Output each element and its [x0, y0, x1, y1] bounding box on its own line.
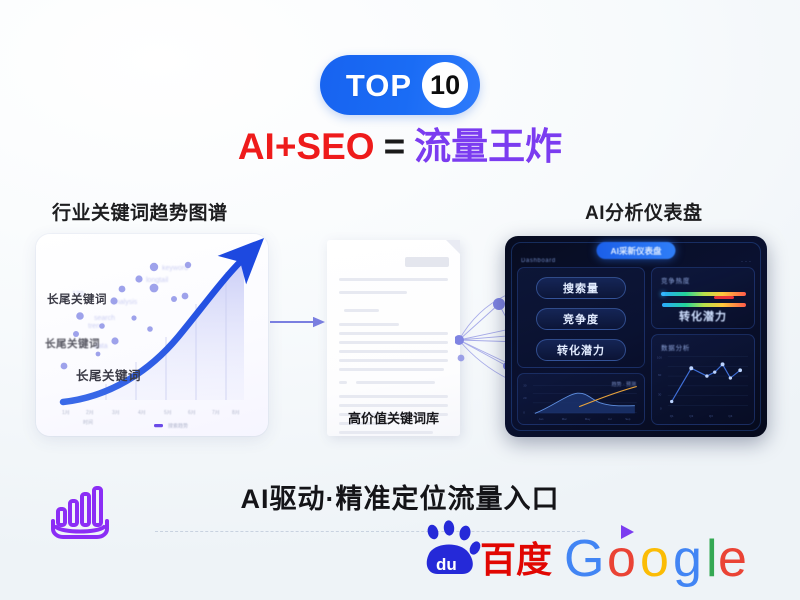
svg-text:4月: 4月 [138, 410, 146, 416]
svg-text:2月: 2月 [86, 410, 94, 416]
ai-dashboard: AI采新仪表盘 Dashboard ··· 搜索量 竞争度 转化潜力 趋势 · … [505, 236, 767, 437]
svg-text:7月: 7月 [212, 410, 220, 416]
dashboard-menu-icon[interactable]: ··· [741, 259, 753, 265]
metrics-panel: 搜索量 竞争度 转化潜力 [517, 267, 645, 368]
svg-text:G: G [564, 530, 604, 588]
svg-text:3月: 3月 [112, 410, 120, 416]
top-badge-container: TOP 10 [0, 55, 800, 115]
top-badge: TOP 10 [320, 55, 480, 115]
svg-text:30: 30 [523, 384, 527, 388]
badge-number: 10 [422, 62, 468, 108]
svg-text:6月: 6月 [188, 410, 196, 416]
svg-text:keyword: keyword [162, 265, 188, 272]
area-chart-panel: 趋势 · 预测 30200 JanMar MayJulSep [517, 373, 645, 425]
svg-text:Q2: Q2 [689, 414, 693, 418]
svg-text:Jan: Jan [539, 417, 544, 421]
svg-text:Sep: Sep [625, 417, 631, 421]
svg-text:时间: 时间 [83, 419, 93, 426]
footer-tagline: AI驱动·精准定位流量入口 [0, 477, 800, 516]
gauge-overlay-label: 转化潜力 [652, 308, 754, 324]
svg-text:100: 100 [657, 355, 662, 359]
svg-text:30: 30 [658, 393, 662, 397]
keyword-label-3: 长尾关键词 [76, 365, 141, 384]
page-title: AI+SEO=流量王炸 [0, 127, 800, 168]
svg-text:Jul: Jul [608, 417, 612, 421]
svg-text:8月: 8月 [232, 410, 240, 416]
left-section-caption: 行业关键词趋势图谱 [52, 198, 228, 225]
gauge-panel: 竞争热度 转化潜力 [651, 267, 755, 329]
google-wordmark: G o o g l e [564, 530, 747, 588]
headline-equals: = [384, 126, 406, 167]
svg-text:analysis: analysis [112, 299, 138, 306]
svg-text:Q1: Q1 [670, 414, 674, 418]
svg-text:search: search [94, 315, 115, 322]
gauge-bar-2 [662, 303, 746, 307]
keyword-document: 高价值关键词库 [327, 240, 460, 436]
metric-pill-conversion-potential[interactable]: 转化潜力 [536, 339, 626, 361]
svg-text:Mar: Mar [562, 417, 567, 421]
svg-text:May: May [585, 417, 591, 421]
right-section-caption: AI分析仪表盘 [585, 198, 703, 225]
keyword-trend-card: keyword longtail analysis search trend d… [36, 234, 268, 436]
baidu-wordmark: 百度 [480, 539, 552, 580]
svg-text:0: 0 [523, 410, 525, 414]
gauge-marker-icon [661, 292, 665, 296]
svg-text:0: 0 [660, 406, 662, 410]
svg-text:1月: 1月 [62, 410, 70, 416]
svg-text:60: 60 [658, 373, 662, 377]
gauge-highlight-segment [714, 296, 734, 299]
badge-label: TOP [346, 70, 412, 101]
svg-text:trend: trend [88, 323, 104, 330]
document-caption: 高价值关键词库 [327, 408, 460, 427]
line-chart-panel: 数据分析 10060 300 Q1Q2 Q3Q4 [651, 334, 755, 425]
svg-text:e: e [718, 530, 747, 588]
dashboard-title: AI采新仪表盘 [596, 242, 675, 259]
svg-text:Q4: Q4 [728, 414, 732, 418]
metric-pill-search-volume[interactable]: 搜索量 [536, 277, 626, 299]
document-header-tag [405, 257, 449, 267]
svg-text:20: 20 [523, 396, 527, 400]
area-chart-svg: 30200 JanMar MayJulSep [518, 374, 644, 424]
trend-chart-svg: keyword longtail analysis search trend d… [36, 234, 268, 436]
keyword-label-2: 长尾关键词 [45, 336, 100, 351]
svg-text:5月: 5月 [164, 410, 172, 416]
keyword-label-1: 长尾关键词 [47, 291, 107, 307]
svg-text:o: o [640, 530, 669, 588]
svg-text:Q3: Q3 [709, 414, 713, 418]
svg-text:o: o [607, 530, 636, 588]
flow-arrow-icon [268, 310, 326, 334]
metric-pill-competition[interactable]: 竞争度 [536, 308, 626, 330]
svg-text:l: l [706, 530, 718, 588]
svg-text:g: g [673, 530, 702, 588]
bar-chart-icon [47, 483, 113, 543]
dashboard-subtitle: Dashboard [521, 258, 556, 264]
svg-text:搜索趋势: 搜索趋势 [168, 423, 188, 430]
line-chart-svg: 10060 300 Q1Q2 Q3Q4 [652, 335, 754, 424]
svg-text:longtail: longtail [146, 277, 169, 284]
headline-traffic: 流量王炸 [414, 126, 562, 167]
search-engine-logos: du 百度 G o o g l e [418, 518, 758, 588]
gauge-panel-label: 竞争热度 [661, 275, 690, 285]
headline-ai-seo: AI+SEO [238, 126, 375, 167]
baidu-du-text: du [436, 555, 457, 574]
